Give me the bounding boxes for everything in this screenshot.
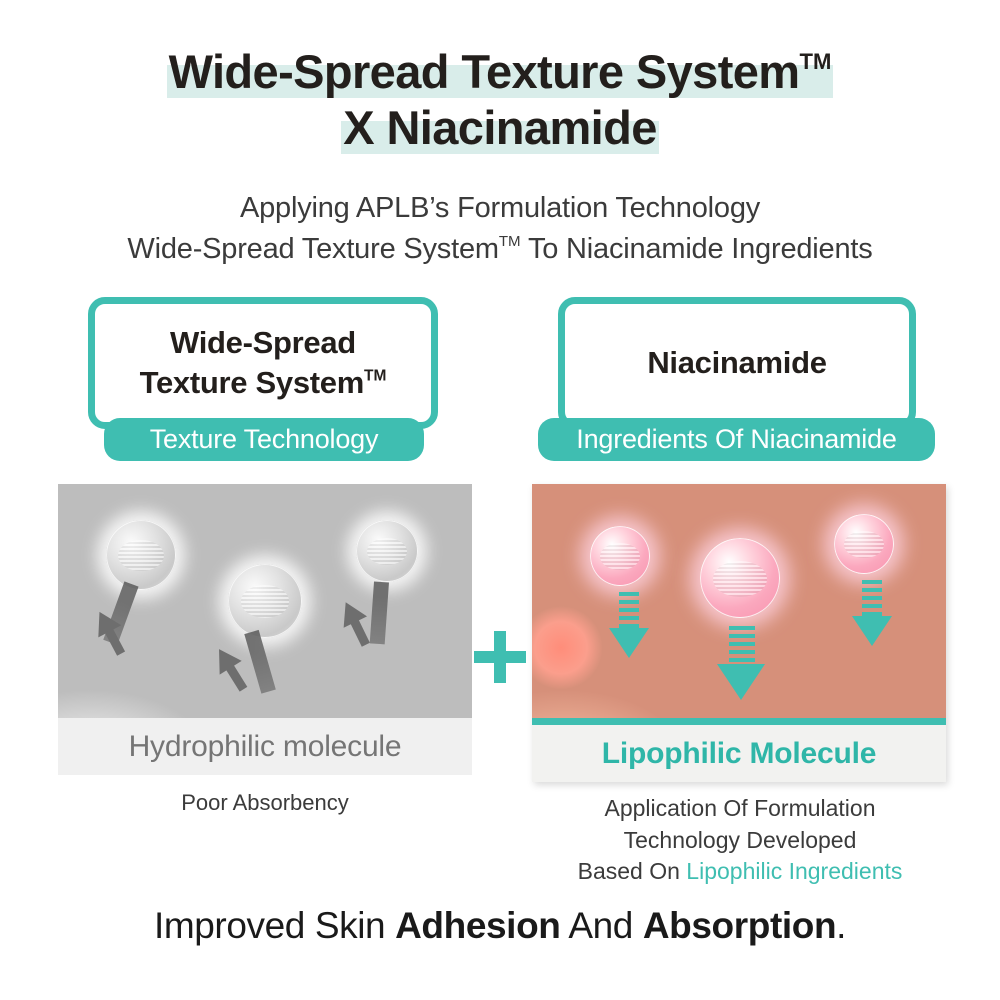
footer-mid: And: [560, 905, 642, 946]
pill-texture-technology: Texture Technology: [104, 418, 424, 461]
note-line-1: Application Of Formulation: [604, 795, 875, 821]
note-line-3-pre: Based On: [578, 858, 687, 884]
lipophilic-skin-scene: [532, 484, 946, 718]
subtitle-line-2: Wide-Spread Texture SystemTM To Niacinam…: [0, 229, 1000, 270]
hydrophilic-skin-scene: [58, 484, 472, 718]
plus-icon: [474, 631, 526, 683]
card-niacinamide: Niacinamide: [558, 297, 916, 429]
caption-hydrophilic-molecule: Hydrophilic molecule: [58, 718, 472, 775]
footer-bold-absorption: Absorption: [643, 905, 836, 946]
card-title-line-1: Wide-Spread: [170, 325, 356, 360]
card-texture-system-title: Wide-Spread Texture SystemTM: [140, 323, 387, 404]
card-texture-system: Wide-Spread Texture SystemTM: [88, 297, 438, 429]
droplet: [590, 526, 650, 586]
footer-bold-adhesion: Adhesion: [395, 905, 560, 946]
droplet: [228, 564, 302, 638]
teal-divider: [532, 718, 946, 725]
pill-ingredients-of-niacinamide: Ingredients Of Niacinamide: [538, 418, 935, 461]
rejection-slash: [244, 630, 276, 694]
title-line-2: X Niacinamide: [0, 104, 1000, 151]
trademark-icon: TM: [799, 49, 831, 74]
footer-post: .: [836, 905, 846, 946]
trademark-icon: TM: [499, 233, 521, 250]
droplet: [700, 538, 780, 618]
subtitle-line-1: Applying APLB’s Formulation Technology: [0, 188, 1000, 229]
title-line-1-text: Wide-Spread Texture System: [169, 45, 800, 98]
droplet: [356, 520, 418, 582]
subtitle-line-2-post: To Niacinamide Ingredients: [521, 233, 873, 265]
footer-pre: Improved Skin: [154, 905, 395, 946]
note-lipophilic-application: Application Of Formulation Technology De…: [520, 793, 960, 888]
trademark-icon: TM: [364, 367, 386, 384]
droplet: [834, 514, 894, 574]
note-line-3-accent: Lipophilic Ingredients: [686, 858, 902, 884]
page-title: Wide-Spread Texture SystemTM X Niacinami…: [0, 48, 1000, 151]
note-line-2: Technology Developed: [624, 827, 857, 853]
card-niacinamide-title: Niacinamide: [647, 343, 826, 383]
rejection-slash: [370, 581, 389, 644]
caption-lipophilic-molecule: Lipophilic Molecule: [532, 725, 946, 782]
note-poor-absorbency: Poor Absorbency: [58, 790, 472, 816]
title-line-1: Wide-Spread Texture SystemTM: [0, 48, 1000, 95]
panel-lipophilic: Lipophilic Molecule: [532, 484, 946, 782]
title-line-2-text: X Niacinamide: [341, 101, 659, 154]
footer-tagline: Improved Skin Adhesion And Absorption.: [0, 905, 1000, 947]
droplet: [106, 520, 176, 590]
panel-hydrophilic: Hydrophilic molecule: [58, 484, 472, 775]
card-title-line-2: Texture System: [140, 365, 364, 400]
subtitle-line-2-pre: Wide-Spread Texture System: [127, 233, 498, 265]
subtitle: Applying APLB’s Formulation Technology W…: [0, 188, 1000, 269]
